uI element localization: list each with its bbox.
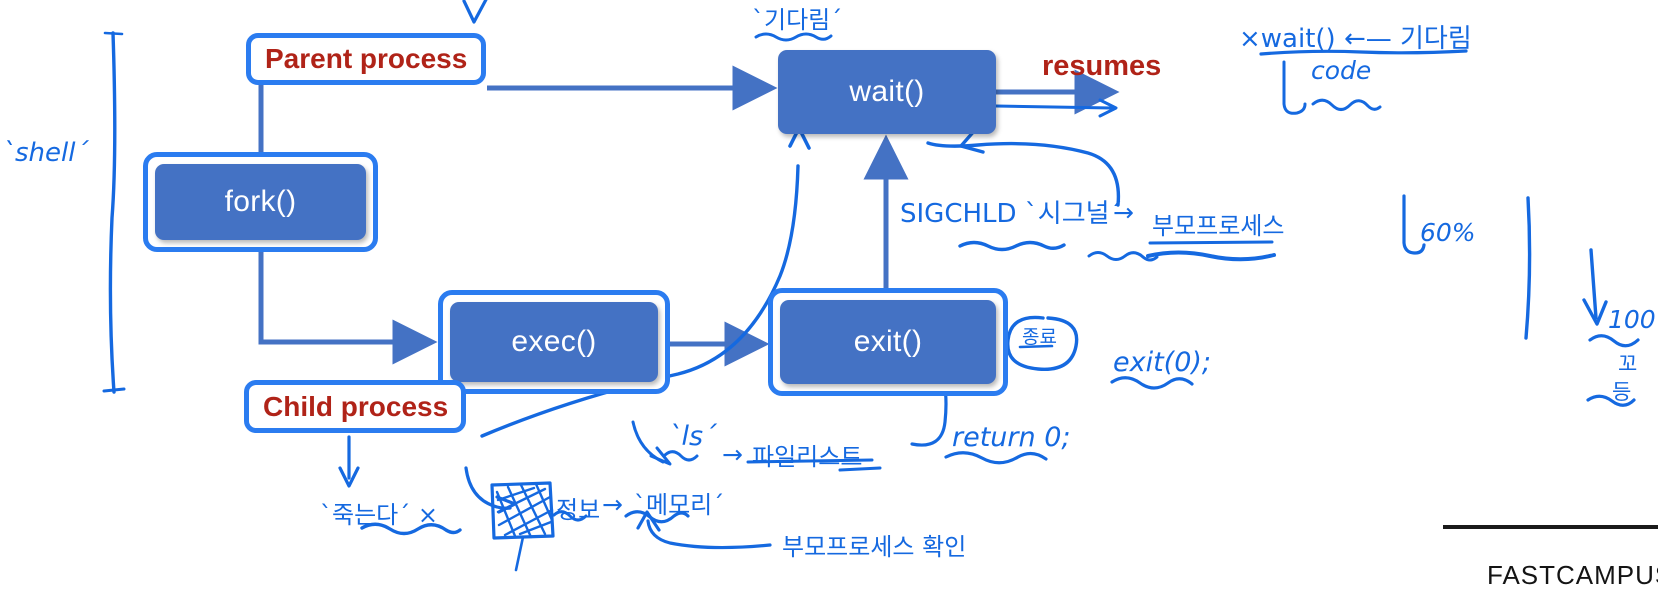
annotation-arrow-ls: → (722, 440, 743, 469)
resumes-label: resumes (1042, 50, 1161, 83)
footer-divider (1443, 525, 1658, 529)
annotation-pct-60: 60% (1420, 218, 1476, 247)
annotation-jeongbo: 정보 (556, 490, 600, 525)
node-fork[interactable]: fork() (143, 152, 378, 252)
annotation-arrow-to-parent: → (1113, 198, 1134, 227)
node-exec[interactable]: exec() (438, 290, 670, 394)
slide-canvas: fork() wait() exec() exit() Parent proce… (0, 0, 1658, 596)
node-exit[interactable]: exit() (768, 288, 1008, 396)
node-exit-label: exit() (780, 300, 996, 384)
label-child-process[interactable]: Child process (244, 380, 466, 433)
annotation-arrow-mem: → (602, 490, 623, 519)
annotation-exit-zero: exit(0); (1113, 347, 1211, 378)
annotation-code: code (1311, 56, 1371, 85)
annotation-jukneunda: `죽는다´ × (320, 495, 438, 530)
annotation-x-wait-gidarim: ×wait() ←— 기다림 (1239, 18, 1472, 55)
node-fork-label: fork() (155, 164, 366, 240)
node-wait-label: wait() (778, 50, 996, 134)
annotation-sigchld-signal: SIGCHLD `시그널´ (900, 193, 1123, 230)
connector-fork-to-exec (261, 252, 430, 342)
annotation-ls: `ls´ (668, 421, 717, 452)
annotation-memory: `메모리´ (634, 485, 724, 520)
label-parent-process[interactable]: Parent process (246, 33, 486, 85)
annotation-pct-100: 100% (1608, 305, 1658, 334)
node-wait[interactable]: wait() (778, 50, 996, 134)
annotation-return-zero: return 0; (952, 422, 1070, 453)
node-exec-label: exec() (450, 302, 658, 382)
annotation-file-list: 파일리스트 (752, 437, 862, 472)
annotation-bumo-confirm: 부모프로세스 확인 (782, 527, 966, 562)
brand-logo: FASTCAMPUS (1487, 560, 1658, 591)
annotation-bumo-process: 부모프로세스 (1152, 206, 1284, 241)
annotation-ko-tail2: 등 (1612, 376, 1631, 406)
annotation-jongnyo: 종료 (1022, 322, 1057, 349)
annotation-shell: `shell´ (2, 138, 88, 168)
label-parent-process-text: Parent process (265, 43, 467, 75)
annotation-gidarim-top: `기다림´ (752, 0, 842, 35)
annotation-ko-tail: 꼬 (1618, 348, 1637, 378)
label-child-process-text: Child process (263, 391, 448, 423)
